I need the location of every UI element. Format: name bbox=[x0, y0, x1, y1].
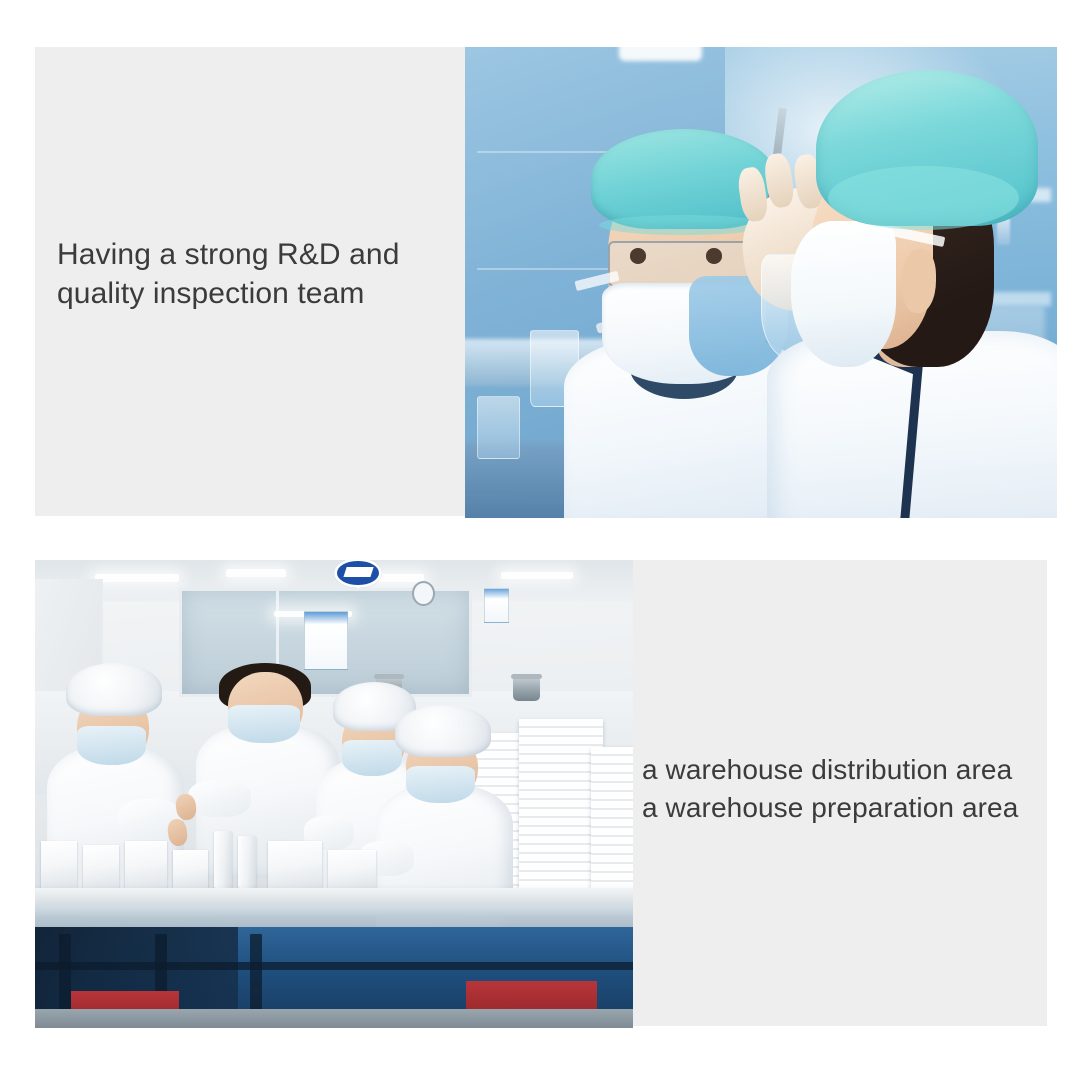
rnd-caption-text: Having a strong R&D and quality inspecti… bbox=[35, 235, 409, 313]
carton-stack bbox=[591, 747, 633, 887]
arm bbox=[188, 780, 251, 817]
lab-scene bbox=[465, 47, 1057, 518]
carton bbox=[328, 850, 376, 888]
frame-bar bbox=[250, 934, 262, 1018]
carton bbox=[268, 841, 322, 889]
wall-clock bbox=[412, 581, 435, 606]
ceiling-light bbox=[501, 572, 573, 579]
face-mask bbox=[228, 705, 300, 742]
eye bbox=[706, 248, 722, 263]
rnd-caption-panel: Having a strong R&D and quality inspecti… bbox=[35, 47, 466, 516]
face-mask bbox=[791, 221, 896, 367]
face-mask bbox=[406, 766, 475, 803]
carton bbox=[41, 841, 77, 889]
section-warehouse: a warehouse distribution area a warehous… bbox=[35, 560, 1047, 1028]
product-tube bbox=[238, 836, 256, 887]
product-tube bbox=[214, 831, 232, 887]
ceiling-light bbox=[95, 574, 179, 581]
floor bbox=[35, 1009, 633, 1028]
frame-bar bbox=[59, 934, 71, 1018]
ceiling-light bbox=[226, 569, 286, 576]
eye bbox=[630, 248, 646, 263]
lab-technician-profile bbox=[773, 66, 1057, 518]
wall-poster bbox=[484, 588, 510, 623]
frame-bar bbox=[35, 962, 633, 969]
warehouse-caption-text: a warehouse distribution area a warehous… bbox=[633, 751, 1022, 827]
page-root: Having a strong R&D and quality inspecti… bbox=[0, 0, 1080, 1080]
face-mask bbox=[77, 726, 146, 765]
carton bbox=[83, 845, 119, 888]
blue-round-sign bbox=[334, 560, 382, 588]
lab-technicians-photo bbox=[465, 47, 1057, 518]
hairnet bbox=[395, 705, 491, 756]
ceiling-lamp bbox=[619, 47, 702, 61]
warehouse-packing-photo bbox=[35, 560, 633, 1028]
carton bbox=[125, 841, 167, 889]
carton bbox=[173, 850, 209, 888]
steel-table-edge bbox=[35, 906, 633, 929]
ear bbox=[902, 249, 936, 313]
hairnet bbox=[66, 663, 162, 717]
stainless-pot bbox=[513, 677, 539, 701]
surgical-cap-fold bbox=[828, 166, 1019, 230]
section-rnd-quality: Having a strong R&D and quality inspecti… bbox=[35, 47, 1057, 518]
lab-beaker bbox=[477, 396, 520, 459]
warehouse-scene bbox=[35, 560, 633, 1028]
warehouse-caption-panel: a warehouse distribution area a warehous… bbox=[633, 560, 1047, 1026]
